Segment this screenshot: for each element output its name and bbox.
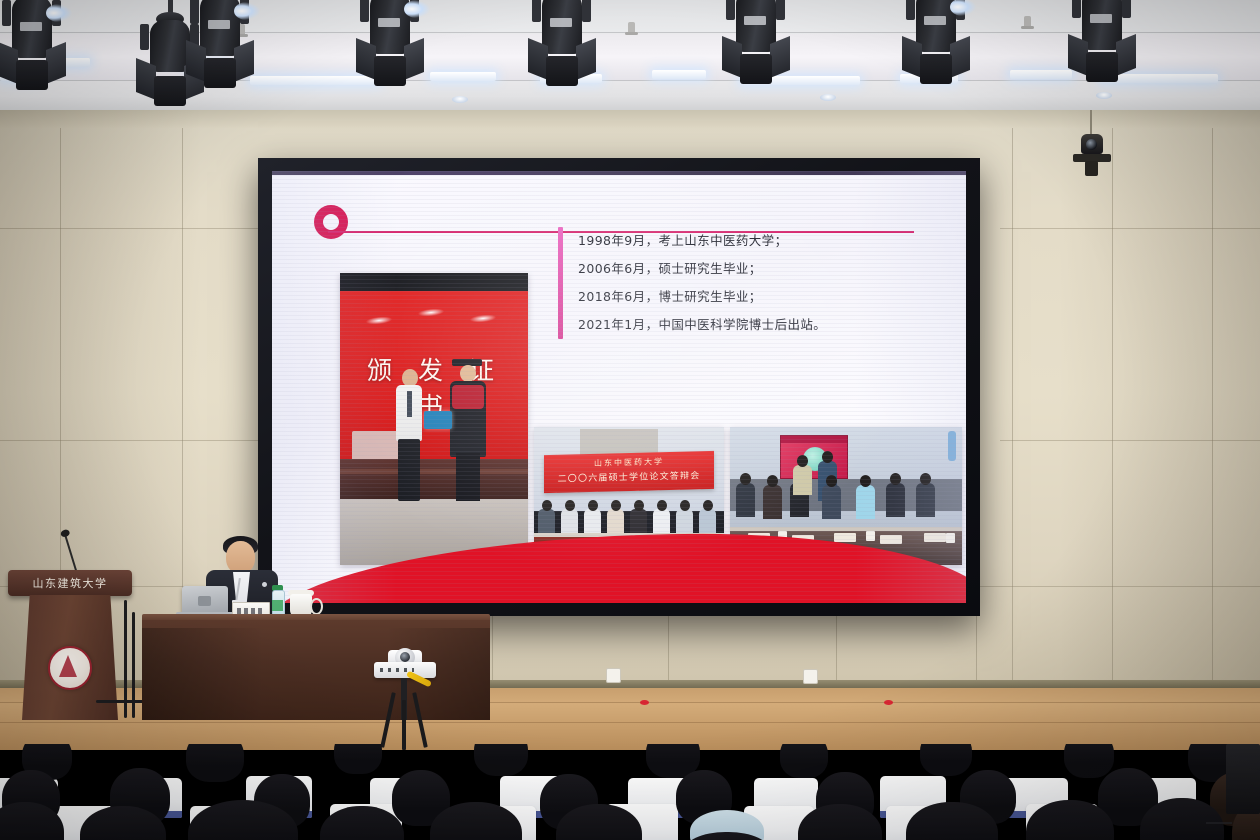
university-crest-icon xyxy=(48,646,92,690)
bullet-item: 2018年6月，博士研究生毕业； xyxy=(578,283,950,311)
eyeglasses xyxy=(1206,822,1232,830)
accent-bar xyxy=(558,227,563,339)
presentation-slide: 1998年9月，考上山东中医药大学； 2006年6月，硕士研究生毕业； 2018… xyxy=(272,171,966,603)
audience-head xyxy=(474,744,528,776)
camera-lens-icon xyxy=(400,652,410,662)
bullet-item: 2006年6月，硕士研究生毕业； xyxy=(578,255,950,283)
lectern: 山东建筑大学 xyxy=(14,570,126,720)
projection-screen: 1998年9月，考上山东中医药大学； 2006年6月，硕士研究生毕业； 2018… xyxy=(258,158,980,616)
bullet-list: 1998年9月，考上山东中医药大学； 2006年6月，硕士研究生毕业； 2018… xyxy=(578,227,950,339)
bullet-item: 1998年9月，考上山东中医药大学； xyxy=(578,227,950,255)
loudspeaker xyxy=(1226,744,1260,814)
audience xyxy=(0,744,1260,840)
certificate xyxy=(424,411,452,429)
bullet-item: 2021年1月，中国中医科学院博士后出站。 xyxy=(578,311,950,339)
audience-head xyxy=(1064,744,1114,778)
defense-banner-line2: 二〇〇六届硕士学位论文答辩会 xyxy=(544,468,714,485)
ring-icon xyxy=(314,205,348,239)
ceiling xyxy=(0,0,1260,112)
floor-marker xyxy=(884,700,893,705)
certificate-ceremony-photo: 颁 发 证 书 xyxy=(340,273,528,565)
lectern-label: 山东建筑大学 xyxy=(8,575,132,591)
wall-switch[interactable] xyxy=(803,669,818,684)
wall-outlet[interactable] xyxy=(606,668,621,683)
audience-head xyxy=(334,744,382,774)
audience-head xyxy=(780,744,828,778)
audience-head xyxy=(920,744,972,776)
floor-marker xyxy=(640,700,649,705)
audience-head xyxy=(186,744,244,782)
lecture-hall-photo: 1998年9月，考上山东中医药大学； 2006年6月，硕士研究生毕业； 2018… xyxy=(0,0,1260,840)
